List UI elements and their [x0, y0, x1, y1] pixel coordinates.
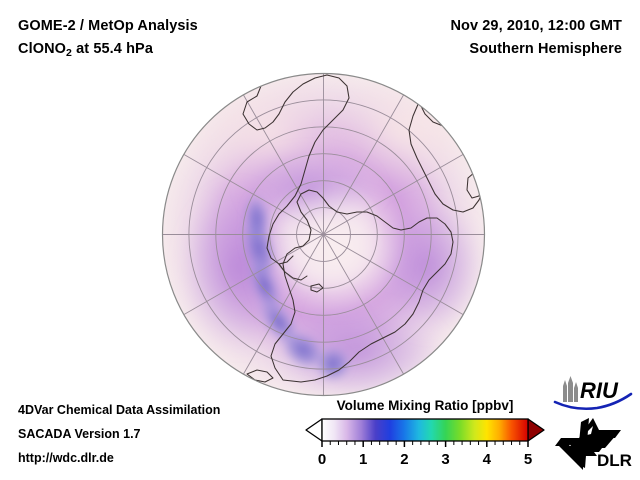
colorbar-tick-label: 5 [524, 451, 532, 468]
logo-group: RIU DLR [553, 372, 637, 476]
colorbar-tick-label: 0 [318, 451, 326, 468]
species-subscript: 2 [66, 47, 72, 59]
colorbar-extend-high [528, 419, 544, 441]
instrument-title: GOME-2 / MetOp Analysis [18, 18, 198, 34]
riu-logo: RIU [553, 372, 637, 416]
colorbar-tick-label: 4 [483, 451, 492, 468]
coastline-tasmania [460, 358, 471, 369]
colorbar-tick-labels: 0 1 2 3 4 5 [318, 451, 532, 468]
species-prefix: ClONO [18, 41, 66, 57]
footer-method: 4DVar Chemical Data Assimilation [18, 403, 220, 417]
dlr-logo: DLR [553, 416, 637, 474]
species-suffix: at 55.4 hPa [72, 41, 153, 57]
hemisphere-label: Southern Hemisphere [469, 41, 622, 57]
colorbar-title: Volume Mixing Ratio [ppbv] [300, 398, 550, 413]
coastline-new-zealand [405, 374, 441, 394]
colorbar-extend-low [306, 419, 322, 441]
polar-orthographic-map [161, 72, 486, 397]
colorbar-tick-label: 3 [441, 451, 449, 468]
colorbar-svg: 0 1 2 3 4 5 [300, 417, 550, 473]
colorbar-tick-label: 2 [400, 451, 408, 468]
footer-url[interactable]: http://wdc.dlr.de [18, 451, 114, 465]
colorbar-gradient [322, 419, 528, 441]
colorbar-tick-label: 1 [359, 451, 367, 468]
dlr-logo-text: DLR [597, 451, 632, 470]
globe-svg [161, 72, 486, 397]
riu-towers-icon [563, 376, 578, 402]
coastline-australia [465, 304, 485, 356]
footer-version: SACADA Version 1.7 [18, 427, 141, 441]
observation-datetime: Nov 29, 2010, 12:00 GMT [450, 18, 622, 34]
field-vortex-core [265, 186, 409, 314]
riu-logo-text: RIU [580, 378, 619, 403]
colorbar-major-ticks [322, 441, 528, 447]
colorbar: Volume Mixing Ratio [ppbv] [300, 398, 550, 473]
species-title: ClONO2 at 55.4 hPa [18, 41, 153, 57]
